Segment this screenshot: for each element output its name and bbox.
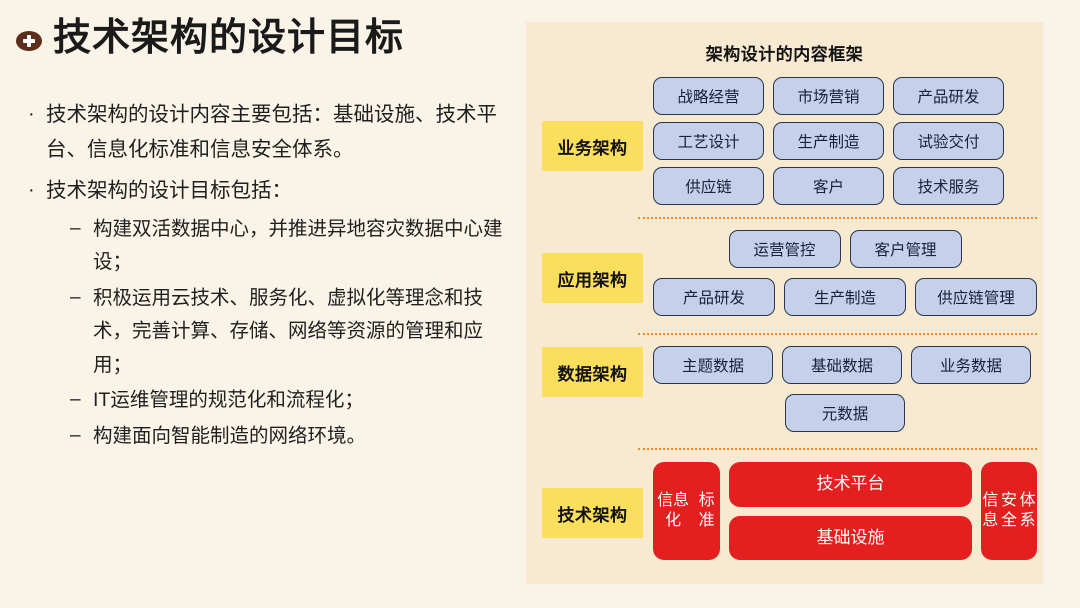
bullet-item-2: · 技术架构的设计目标包括： [28, 173, 518, 208]
bullet-text: 技术架构的设计目标包括： [46, 173, 518, 208]
node-informatization-standard[interactable]: 信息化标准 [653, 462, 720, 560]
node-technical-service[interactable]: 技术服务 [893, 167, 1004, 205]
bullet-text: 构建面向智能制造的网络环境。 [93, 420, 518, 454]
section-data-architecture: 数据架构 主题数据 基础数据 业务数据 元数据 [526, 346, 1043, 448]
bullet-item-3: – 构建双活数据中心，并推进异地容灾数据中心建设； [70, 213, 518, 280]
bullet-marker: – [70, 384, 93, 417]
node-marketing[interactable]: 市场营销 [773, 77, 884, 115]
node-supply-chain[interactable]: 供应链 [653, 167, 764, 205]
section-label-technology: 技术架构 [542, 488, 643, 538]
bullet-marker: – [70, 282, 93, 315]
framework-panel: 架构设计的内容框架 业务架构 战略经营 市场营销 产品研发 工艺设计 生产制造 … [526, 22, 1043, 584]
node-test-delivery[interactable]: 试验交付 [893, 122, 1004, 160]
section-label-application: 应用架构 [542, 253, 643, 303]
section-divider-1 [638, 217, 1037, 219]
bullet-item-1: · 技术架构的设计内容主要包括：基础设施、技术平台、信息化标准和信息安全体系。 [28, 97, 518, 168]
node-technology-platform[interactable]: 技术平台 [729, 462, 972, 507]
page-title: 技术架构的设计目标 [53, 18, 404, 60]
business-row-3: 供应链 客户 技术服务 [653, 167, 1037, 205]
technology-boxes-area: 信息化标准 技术平台 基础设施 信息安全体系 [653, 462, 1037, 560]
node-infrastructure[interactable]: 基础设施 [729, 516, 972, 561]
bullet-marker: – [70, 213, 93, 246]
node-customer-management[interactable]: 客户管理 [850, 230, 962, 268]
node-information-security-system[interactable]: 信息安全体系 [981, 462, 1037, 560]
node-subject-data[interactable]: 主题数据 [653, 346, 773, 384]
section-label-business: 业务架构 [542, 121, 643, 171]
node-strategy-operations[interactable]: 战略经营 [653, 77, 764, 115]
node-app-product-rd[interactable]: 产品研发 [653, 278, 775, 316]
bullet-text: 积极运用云技术、服务化、虚拟化等理念和技术，完善计算、存储、网络等资源的管理和应… [93, 282, 518, 383]
application-row-1: 运营管控 客户管理 [653, 230, 1037, 268]
page-title-row: 技术架构的设计目标 [16, 18, 404, 60]
bullet-text: 构建双活数据中心，并推进异地容灾数据中心建设； [93, 213, 518, 280]
left-content-column: 技术架构的设计目标 · 技术架构的设计内容主要包括：基础设施、技术平台、信息化标… [0, 0, 520, 608]
node-supply-chain-management[interactable]: 供应链管理 [915, 278, 1037, 316]
node-master-data[interactable]: 基础数据 [782, 346, 902, 384]
section-label-data: 数据架构 [542, 347, 643, 397]
node-app-manufacturing[interactable]: 生产制造 [784, 278, 906, 316]
bullet-marker: · [28, 97, 46, 131]
bullet-text: 技术架构的设计内容主要包括：基础设施、技术平台、信息化标准和信息安全体系。 [46, 97, 518, 168]
bullet-list: · 技术架构的设计内容主要包括：基础设施、技术平台、信息化标准和信息安全体系。 … [28, 97, 518, 455]
section-application-architecture: 应用架构 运营管控 客户管理 产品研发 生产制造 供应链管理 [526, 230, 1043, 333]
business-boxes-area: 战略经营 市场营销 产品研发 工艺设计 生产制造 试验交付 供应链 客户 技术服… [653, 77, 1037, 205]
node-operations-control[interactable]: 运营管控 [729, 230, 841, 268]
application-boxes-area: 运营管控 客户管理 产品研发 生产制造 供应链管理 [653, 230, 1037, 316]
bullet-marker: · [28, 173, 46, 207]
technology-middle-column: 技术平台 基础设施 [729, 462, 972, 560]
bullet-marker: – [70, 420, 93, 453]
application-row-2: 产品研发 生产制造 供应链管理 [653, 278, 1037, 316]
node-manufacturing[interactable]: 生产制造 [773, 122, 884, 160]
business-row-1: 战略经营 市场营销 产品研发 [653, 77, 1037, 115]
node-customer[interactable]: 客户 [773, 167, 884, 205]
bullet-text: IT运维管理的规范化和流程化； [93, 384, 518, 418]
section-technology-architecture: 技术架构 信息化标准 技术平台 基础设施 信息安全体系 [526, 462, 1043, 572]
business-row-2: 工艺设计 生产制造 试验交付 [653, 122, 1037, 160]
framework-title: 架构设计的内容框架 [526, 22, 1043, 65]
bullet-item-5: – IT运维管理的规范化和流程化； [70, 384, 518, 418]
data-row-1: 主题数据 基础数据 业务数据 [653, 346, 1037, 384]
section-business-architecture: 业务架构 战略经营 市场营销 产品研发 工艺设计 生产制造 试验交付 供应链 客… [526, 77, 1043, 217]
node-business-data[interactable]: 业务数据 [911, 346, 1031, 384]
section-divider-3 [638, 448, 1037, 450]
bullet-item-6: – 构建面向智能制造的网络环境。 [70, 420, 518, 454]
bullet-item-4: – 积极运用云技术、服务化、虚拟化等理念和技术，完善计算、存储、网络等资源的管理… [70, 282, 518, 383]
data-row-2: 元数据 [653, 394, 1037, 432]
node-product-rd[interactable]: 产品研发 [893, 77, 1004, 115]
data-boxes-area: 主题数据 基础数据 业务数据 元数据 [653, 346, 1037, 432]
node-process-design[interactable]: 工艺设计 [653, 122, 764, 160]
node-metadata[interactable]: 元数据 [785, 394, 905, 432]
section-divider-2 [638, 333, 1037, 335]
plus-circle-icon [16, 31, 42, 51]
